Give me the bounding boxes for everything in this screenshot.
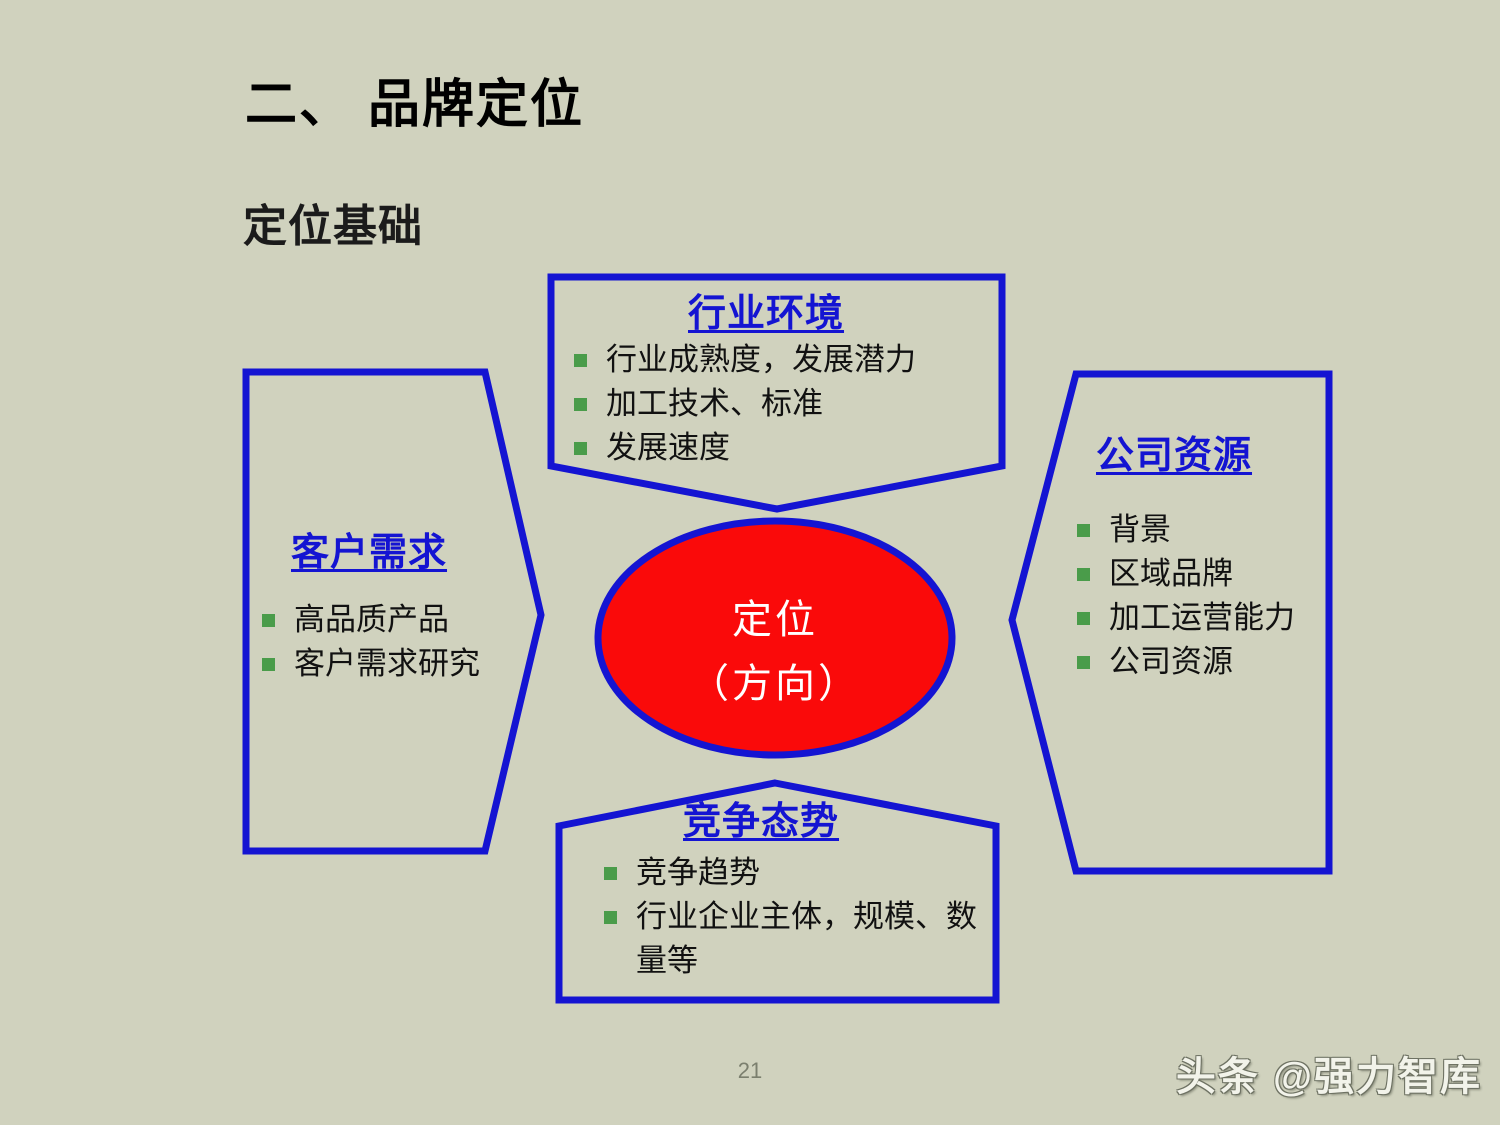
list-item: 高品质产品 (258, 598, 480, 642)
bullet-square-icon (574, 354, 587, 367)
list-item: 客户需求研究 (258, 642, 480, 686)
list-item: 行业成熟度，发展潜力 (570, 338, 916, 382)
left-box-heading: 客户需求 (291, 521, 447, 576)
list-item-label: 行业企业主体，规模、数量等 (636, 899, 977, 978)
watermark: 头条 @强力智库 (1176, 1044, 1482, 1102)
list-item-label: 发展速度 (606, 430, 730, 465)
bullet-square-icon (1077, 656, 1090, 669)
bullet-square-icon (604, 911, 617, 924)
list-item-label: 区域品牌 (1109, 556, 1233, 591)
bottom-box-heading: 竞争态势 (683, 790, 839, 845)
list-item: 行业企业主体，规模、数量等 (600, 895, 990, 983)
list-item: 发展速度 (570, 426, 916, 470)
list-item-label: 加工运营能力 (1109, 600, 1295, 635)
left-box-bullets: 高品质产品 客户需求研究 (258, 598, 480, 686)
list-item-label: 背景 (1109, 512, 1171, 547)
list-item: 区域品牌 (1073, 552, 1295, 596)
list-item-label: 加工技术、标准 (606, 386, 823, 421)
top-box-heading: 行业环境 (688, 282, 844, 337)
right-box-bullets: 背景 区域品牌 加工运营能力 公司资源 (1073, 508, 1295, 684)
list-item: 加工运营能力 (1073, 596, 1295, 640)
center-label-line1: 定位 (595, 587, 955, 645)
bullet-square-icon (1077, 524, 1090, 537)
list-item-label: 客户需求研究 (294, 646, 480, 681)
bottom-box-bullets: 竞争趋势 行业企业主体，规模、数量等 (600, 851, 990, 983)
list-item-label: 行业成熟度，发展潜力 (606, 342, 916, 377)
slide: 二、 品牌定位 定位基础 行业环境 行业成熟度，发展潜力 加工技术、标准 发展速… (0, 0, 1500, 1125)
list-item-label: 公司资源 (1109, 644, 1233, 679)
bullet-square-icon (574, 398, 587, 411)
list-item-label: 高品质产品 (294, 602, 449, 637)
center-label-line2: （方向） (595, 651, 955, 709)
list-item: 加工技术、标准 (570, 382, 916, 426)
list-item: 背景 (1073, 508, 1295, 552)
bullet-square-icon (1077, 568, 1090, 581)
bullet-square-icon (262, 614, 275, 627)
bullet-square-icon (604, 867, 617, 880)
list-item: 公司资源 (1073, 640, 1295, 684)
list-item: 竞争趋势 (600, 851, 990, 895)
bullet-square-icon (262, 658, 275, 671)
bullet-square-icon (1077, 612, 1090, 625)
right-box-heading: 公司资源 (1096, 424, 1252, 479)
list-item-label: 竞争趋势 (636, 855, 760, 890)
bullet-square-icon (574, 442, 587, 455)
top-box-bullets: 行业成熟度，发展潜力 加工技术、标准 发展速度 (570, 338, 916, 470)
